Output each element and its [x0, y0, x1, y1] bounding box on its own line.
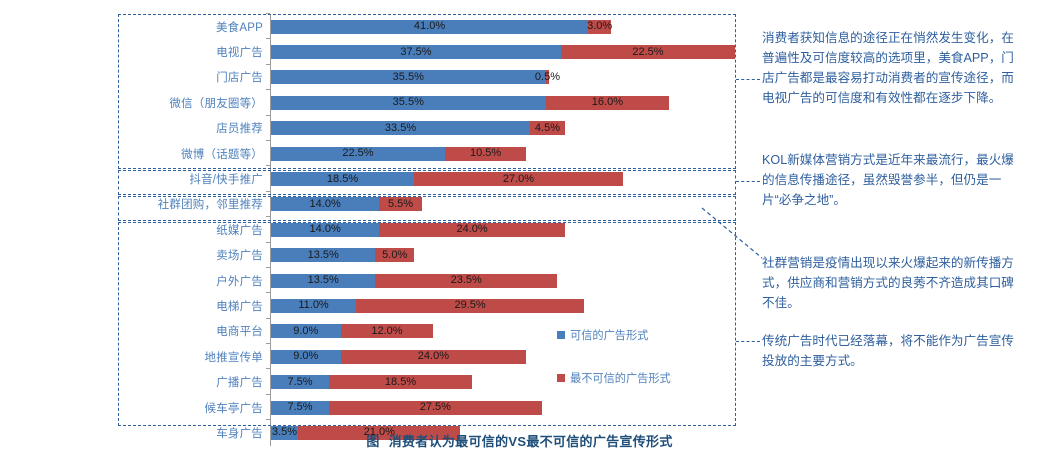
bar-value-label: 7.5%	[287, 402, 312, 413]
bar-value-label: 9.0%	[293, 351, 318, 362]
bar-segment-untrusted: 27.5%	[329, 401, 542, 415]
axis-tick	[266, 216, 270, 217]
bar-segment-trusted: 3.5%	[271, 426, 298, 440]
bar-value-label: 35.5%	[393, 97, 424, 108]
chart-row: 美食APP41.0%3.0%	[118, 14, 736, 39]
stacked-bar: 18.5%27.0%	[271, 172, 736, 186]
bar-value-label: 24.0%	[456, 224, 487, 235]
bar-value-label: 29.5%	[455, 300, 486, 311]
bar-value-label: 24.0%	[418, 351, 449, 362]
chart-row: 纸媒广告14.0%24.0%	[118, 217, 736, 242]
axis-tick	[266, 394, 270, 395]
bar-segment-trusted: 18.5%	[271, 172, 414, 186]
axis-tick	[266, 191, 270, 192]
bar-segment-trusted: 14.0%	[271, 197, 379, 211]
bar-track: 33.5%4.5%	[270, 116, 736, 141]
bar-value-label: 27.5%	[420, 402, 451, 413]
leader-line-4	[736, 341, 760, 342]
bar-value-label: 13.5%	[308, 250, 339, 261]
bar-value-label: 35.5%	[393, 72, 424, 83]
axis-tick	[266, 64, 270, 65]
bar-track: 37.5%22.5%	[270, 39, 736, 64]
figure-title: 图消费者认为最可信的VS最不可信的广告宣传形式	[0, 431, 1039, 450]
bar-value-label: 3.0%	[587, 21, 612, 32]
axis-tick	[266, 140, 270, 141]
bar-segment-untrusted: 27.0%	[414, 172, 623, 186]
legend-swatch-red	[557, 374, 565, 382]
bar-value-label: 7.5%	[287, 377, 312, 388]
axis-tick	[266, 267, 270, 268]
bar-segment-trusted: 9.0%	[271, 324, 341, 338]
bar-track: 18.5%27.0%	[270, 166, 736, 191]
bar-segment-untrusted: 29.5%	[356, 299, 584, 313]
axis-tick	[266, 38, 270, 39]
bar-track: 35.5%16.0%	[270, 90, 736, 115]
bar-value-label: 0.5%	[535, 72, 560, 83]
bar-value-label: 5.0%	[382, 250, 407, 261]
leader-line-2	[736, 181, 760, 182]
figure-title-text: 消费者认为最可信的VS最不可信的广告宣传形式	[389, 434, 673, 449]
axis-tick	[266, 115, 270, 116]
bar-segment-trusted: 35.5%	[271, 96, 546, 110]
legend-swatch-blue	[557, 331, 565, 339]
bar-segment-untrusted: 16.0%	[546, 96, 670, 110]
category-label: 微博（话题等）	[118, 146, 270, 162]
bar-value-label: 14.0%	[310, 224, 341, 235]
axis-tick	[266, 242, 270, 243]
bar-segment-untrusted: 23.5%	[375, 274, 557, 288]
leader-line-1	[736, 79, 760, 80]
category-label: 纸媒广告	[118, 222, 270, 238]
chart-row: 卖场广告13.5%5.0%	[118, 243, 736, 268]
bar-segment-trusted: 37.5%	[271, 45, 561, 59]
bar-segment-trusted: 35.5%	[271, 70, 546, 84]
bar-segment-untrusted: 4.5%	[530, 121, 565, 135]
bar-value-label: 37.5%	[400, 47, 431, 58]
annotation-kol-marketing: KOL新媒体营销方式是近年来最流行，最火爆的信息传播途径，虽然毁誉参半，但仍是一…	[762, 150, 1024, 210]
bar-segment-trusted: 14.0%	[271, 223, 379, 237]
legend-item-untrusted[interactable]: 最不可信的广告形式	[557, 370, 671, 386]
bar-segment-untrusted: 24.0%	[379, 223, 565, 237]
chart-row: 店员推荐33.5%4.5%	[118, 116, 736, 141]
stacked-bar: 35.5%0.5%	[271, 70, 736, 84]
legend-label-trusted: 可信的广告形式	[570, 327, 648, 343]
stacked-bar: 33.5%4.5%	[271, 121, 736, 135]
bar-track: 35.5%0.5%	[270, 65, 736, 90]
axis-tick	[266, 368, 270, 369]
bar-segment-untrusted: 24.0%	[341, 350, 527, 364]
axis-tick	[266, 419, 270, 420]
bar-track: 41.0%3.0%	[270, 14, 736, 39]
bar-value-label: 14.0%	[310, 199, 341, 210]
bar-value-label: 13.5%	[308, 275, 339, 286]
stacked-bar: 37.5%22.5%	[271, 45, 736, 59]
bar-value-label: 22.5%	[632, 47, 663, 58]
annotation-traditional-ads: 传统广告时代已经落幕，将不能作为广告宣传投放的主要方式。	[762, 331, 1024, 371]
chart-row: 门店广告35.5%0.5%	[118, 65, 736, 90]
category-label: 店员推荐	[118, 120, 270, 136]
chart-row: 微信（朋友圈等）35.5%16.0%	[118, 90, 736, 115]
bar-segment-trusted: 13.5%	[271, 274, 375, 288]
legend-item-trusted[interactable]: 可信的广告形式	[557, 327, 671, 343]
axis-tick	[266, 89, 270, 90]
bar-track: 13.5%5.0%	[270, 243, 736, 268]
bar-segment-untrusted: 5.0%	[375, 248, 414, 262]
chart-row: 电视广告37.5%22.5%	[118, 39, 736, 64]
bar-value-label: 12.0%	[371, 326, 402, 337]
bar-value-label: 9.0%	[293, 326, 318, 337]
bar-segment-trusted: 41.0%	[271, 20, 588, 34]
bar-value-label: 41.0%	[414, 21, 445, 32]
stacked-bar: 14.0%5.5%	[271, 197, 736, 211]
category-label: 候车亭广告	[118, 400, 270, 416]
bar-segment-trusted: 22.5%	[271, 147, 445, 161]
bar-segment-trusted: 11.0%	[271, 299, 356, 313]
chart-row: 抖音/快手推广18.5%27.0%	[118, 166, 736, 191]
bar-value-label: 16.0%	[592, 97, 623, 108]
stacked-bar: 13.5%5.0%	[271, 248, 736, 262]
bar-value-label: 21.0%	[364, 427, 395, 438]
bar-value-label: 23.5%	[451, 275, 482, 286]
bar-value-label: 27.0%	[503, 174, 534, 185]
bar-track: 14.0%5.5%	[270, 192, 736, 217]
category-label: 微信（朋友圈等）	[118, 95, 270, 111]
annotation-community-marketing: 社群营销是疫情出现以来火爆起来的新传播方式，供应商和营销方式的良莠不齐造成其口碑…	[762, 253, 1024, 313]
bar-track: 13.5%23.5%	[270, 268, 736, 293]
bar-value-label: 3.5%	[272, 427, 297, 438]
stacked-bar: 11.0%29.5%	[271, 299, 736, 313]
bar-segment-untrusted: 0.5%	[546, 70, 550, 84]
chart-row: 户外广告13.5%23.5%	[118, 268, 736, 293]
bar-segment-trusted: 7.5%	[271, 401, 329, 415]
legend-label-untrusted: 最不可信的广告形式	[570, 370, 671, 386]
stacked-bar: 41.0%3.0%	[271, 20, 736, 34]
bar-track: 14.0%24.0%	[270, 217, 736, 242]
chart-row: 微博（话题等）22.5%10.5%	[118, 141, 736, 166]
bar-segment-untrusted: 10.5%	[445, 147, 526, 161]
stacked-bar: 35.5%16.0%	[271, 96, 736, 110]
bar-value-label: 4.5%	[535, 123, 560, 134]
bar-segment-trusted: 13.5%	[271, 248, 375, 262]
chart-row: 电梯广告11.0%29.5%	[118, 293, 736, 318]
stacked-bar: 13.5%23.5%	[271, 274, 736, 288]
chart-row: 社群团购，邻里推荐14.0%5.5%	[118, 192, 736, 217]
annotation-trusted-channels: 消费者获知信息的途径正在悄然发生变化，在普遍性及可信度较高的选项里，美食APP，…	[762, 28, 1024, 108]
bar-track: 22.5%10.5%	[270, 141, 736, 166]
bar-segment-untrusted: 3.0%	[588, 20, 611, 34]
category-label: 电商平台	[118, 323, 270, 339]
bar-segment-untrusted: 18.5%	[329, 375, 472, 389]
bar-track: 11.0%29.5%	[270, 293, 736, 318]
axis-tick	[266, 343, 270, 344]
category-label: 抖音/快手推广	[118, 171, 270, 187]
bar-value-label: 11.0%	[298, 300, 328, 311]
bar-value-label: 18.5%	[385, 377, 416, 388]
axis-tick	[266, 165, 270, 166]
bar-segment-trusted: 33.5%	[271, 121, 530, 135]
chart-legend: 可信的广告形式 最不可信的广告形式	[557, 327, 671, 413]
stacked-bar: 14.0%24.0%	[271, 223, 736, 237]
category-label: 广播广告	[118, 374, 270, 390]
category-label: 地推宣传单	[118, 349, 270, 365]
category-label: 门店广告	[118, 69, 270, 85]
category-label: 卖场广告	[118, 247, 270, 263]
bar-segment-untrusted: 5.5%	[379, 197, 422, 211]
axis-tick	[266, 318, 270, 319]
axis-tick	[266, 13, 270, 14]
bar-segment-untrusted: 22.5%	[561, 45, 735, 59]
category-label: 社群团购，邻里推荐	[118, 196, 270, 212]
bar-segment-trusted: 9.0%	[271, 350, 341, 364]
category-label: 美食APP	[118, 19, 270, 35]
bar-value-label: 5.5%	[388, 199, 413, 210]
bar-segment-trusted: 7.5%	[271, 375, 329, 389]
bar-value-label: 33.5%	[385, 123, 416, 134]
category-label: 电梯广告	[118, 298, 270, 314]
category-label: 电视广告	[118, 44, 270, 60]
bar-value-label: 10.5%	[470, 148, 501, 159]
bar-value-label: 22.5%	[342, 148, 373, 159]
stacked-bar: 22.5%10.5%	[271, 147, 736, 161]
axis-tick	[266, 292, 270, 293]
category-label: 户外广告	[118, 273, 270, 289]
bar-value-label: 18.5%	[327, 174, 358, 185]
bar-segment-untrusted: 12.0%	[341, 324, 434, 338]
